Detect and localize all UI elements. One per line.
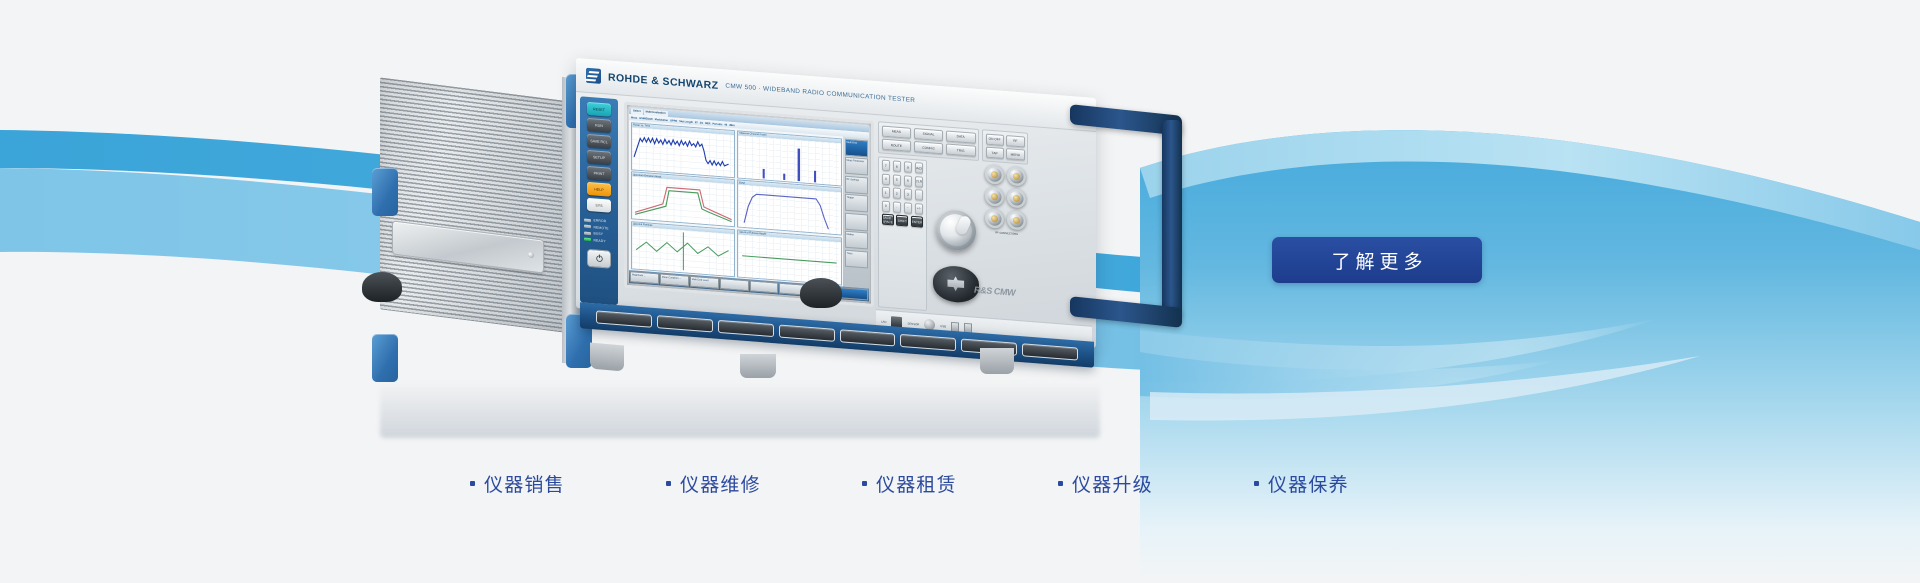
hardkey-reset[interactable]: RESET	[587, 102, 611, 117]
sidekey-meas-parameter[interactable]: Meas Parameter	[845, 157, 868, 176]
model-designation: CMW 500 · WIDEBAND RADIO COMMUNICATION T…	[725, 82, 915, 104]
key-route[interactable]: ROUTE	[882, 139, 912, 152]
power-button[interactable]	[587, 248, 611, 268]
directional-pad[interactable]	[933, 264, 979, 304]
port-label-lan: LAN	[881, 319, 886, 323]
key-6[interactable]: 6	[904, 175, 913, 187]
nav-key-group: ON OFF RF TAP MENU	[982, 129, 1028, 164]
key-tap[interactable]: TAP	[986, 147, 1004, 159]
service-item-maintenance[interactable]: 仪器保养	[1254, 470, 1450, 497]
power-icon	[595, 253, 604, 263]
trace-spectral-flatness	[632, 226, 735, 276]
info-standard: GSM/EDGE	[639, 116, 652, 120]
sidekey-trace[interactable]: Trace	[845, 249, 868, 268]
panel-spectrum-emission-mask[interactable]: Spectrum Emission Mask	[631, 171, 736, 227]
service-label: 仪器维修	[680, 470, 761, 497]
hardkey-help[interactable]: HELP	[587, 182, 611, 197]
info-ber: BER	[705, 121, 710, 124]
panel-power-vs-time[interactable]: Power vs. Time	[631, 122, 736, 178]
hardkey-setup[interactable]: SETUP	[587, 150, 611, 165]
key-dot-alt[interactable]: ·	[915, 189, 924, 201]
rf-connector-label: RF CONNECTORS	[985, 230, 1028, 236]
key-decimal[interactable]: .	[893, 201, 902, 213]
key-shift[interactable]: SHIFT	[896, 215, 908, 227]
key-7[interactable]: 7	[882, 160, 891, 172]
bullet-icon	[470, 481, 475, 486]
service-label: 仪器升级	[1072, 470, 1153, 497]
softkey-4[interactable]	[779, 324, 835, 341]
trace-spectrum-emission-mask	[632, 176, 735, 226]
footkey-blank-4[interactable]	[839, 287, 868, 300]
port-label-sensor: SENSOR	[907, 321, 919, 326]
softkey-3[interactable]	[718, 319, 774, 336]
hardkey-run[interactable]: RUN	[587, 118, 611, 133]
sidekey-multi-eval[interactable]: Multi Eval	[845, 138, 868, 157]
status-led-group: ERROR REMOTE BUSY READY	[582, 217, 616, 243]
key-trig[interactable]: TRIG	[946, 143, 976, 156]
service-label: 仪器销售	[484, 470, 565, 497]
trace-spectral-flatness-ripple	[738, 234, 841, 284]
info-gprs: GPRS	[670, 119, 677, 123]
key-sign[interactable]: +/-	[915, 203, 924, 215]
rf-connector-rf3-com[interactable]	[985, 208, 1004, 228]
key-meas[interactable]: MEAS	[882, 125, 912, 138]
hardkey-print[interactable]: PRINT	[587, 166, 611, 181]
key-on-off[interactable]: ON OFF	[986, 133, 1004, 145]
info-unit: dBm	[729, 123, 735, 126]
key-clr[interactable]: CLR	[915, 176, 924, 188]
hardkey-column: RESET RUN SAVE RCL SETUP PRINT HELP SYS …	[580, 96, 618, 305]
hardkey-sys[interactable]: SYS	[587, 198, 611, 213]
rubber-foot-left	[362, 272, 402, 302]
rf-connector-rf2-out[interactable]	[1007, 188, 1026, 208]
sidekey-blank[interactable]	[845, 212, 868, 231]
carry-handle	[1070, 110, 1186, 326]
panel-spectral-flatness-ripple[interactable]: Spectral Flatness Ripple	[737, 229, 842, 285]
footkey-magnitude[interactable]: Magnitude ...	[630, 271, 659, 284]
footkey-blank-2[interactable]	[750, 280, 779, 293]
key-signal[interactable]: SIGNAL	[914, 127, 944, 140]
function-key-group: MEAS SIGNAL DATA ROUTE CONFIG TRIG	[878, 121, 979, 160]
key-backspace[interactable]: BACK SPACE	[882, 214, 894, 226]
key-data[interactable]: DATA	[946, 130, 976, 143]
footkey-blank-1[interactable]	[720, 278, 749, 291]
hero-banner: ROHDE & SCHWARZ CMW 500 · WIDEBAND RADIO…	[0, 0, 1920, 583]
learn-more-button[interactable]: 了解更多	[1272, 237, 1482, 283]
info-slot-value: 87	[695, 121, 698, 124]
foot-right	[980, 348, 1014, 374]
info-periodic: Periodic	[712, 122, 722, 126]
key-0[interactable]: 0	[882, 200, 891, 212]
panel-evm[interactable]: EVM	[737, 179, 842, 235]
screen-sidekey-column: Multi Eval Meas Parameter RF Settings Tr…	[843, 137, 869, 289]
led-ready: READY	[584, 237, 616, 243]
key-rf[interactable]: RF	[1006, 135, 1024, 147]
softkey-2[interactable]	[657, 315, 713, 332]
info-slot-ratio: 3/1	[700, 121, 703, 124]
key-config[interactable]: CONFIG	[914, 141, 944, 154]
screen-body: Power vs. Time Adjacent Channel Power	[629, 120, 869, 288]
info-slot-length: Slot Length	[679, 119, 693, 123]
corner-rail-top-left	[372, 168, 398, 216]
trace-power-vs-time	[632, 127, 735, 177]
foot-left	[590, 343, 624, 372]
port-label-usb: USB	[940, 324, 946, 328]
rf-connector-rf1-out[interactable]	[1007, 166, 1026, 186]
softkey-6[interactable]	[900, 333, 956, 350]
rf-connector-rf3-out[interactable]	[1007, 210, 1026, 230]
led-error: ERROR	[584, 218, 616, 224]
key-3[interactable]: 3	[904, 188, 913, 200]
led-busy: BUSY	[584, 231, 616, 237]
key-8[interactable]: 8	[893, 160, 902, 172]
trace-adjacent-channel-power	[738, 135, 841, 185]
key-2[interactable]: 2	[893, 187, 902, 199]
panel-spectral-flatness[interactable]: Spectral Flatness	[631, 221, 736, 277]
service-label: 仪器租赁	[876, 470, 957, 497]
service-item-repair[interactable]: 仪器维修	[666, 470, 862, 497]
bullet-icon	[1058, 481, 1063, 486]
rf-connector-rf1-com[interactable]	[985, 164, 1004, 184]
key-menu[interactable]: MENU	[1006, 148, 1024, 160]
key-minus[interactable]: -	[904, 202, 913, 214]
key-enter[interactable]: ENTER	[911, 216, 923, 228]
sidekey-marker[interactable]: Marker	[845, 231, 868, 250]
service-list: 仪器销售 仪器维修 仪器租赁 仪器升级 仪器保养	[0, 470, 1920, 497]
sidekey-trigger[interactable]: Trigger	[845, 194, 868, 213]
led-remote: REMOTE	[584, 224, 616, 230]
trace-evm	[738, 184, 841, 234]
footkey-multi-eval-level[interactable]: Multi Eval Level	[690, 276, 719, 289]
key-1[interactable]: 1	[882, 187, 891, 199]
numeric-keypad-group: 7 8 9 BACK 4 5 6 CLR 1	[878, 156, 927, 311]
softkey-1[interactable]	[596, 310, 652, 327]
screen: Select Multi Evaluation Meas GSM/EDGE Mo…	[629, 107, 869, 301]
info-meas: Meas	[631, 116, 637, 119]
key-5[interactable]: 5	[893, 174, 902, 186]
bullet-icon	[862, 481, 867, 486]
panel-adjacent-channel-power[interactable]: Adjacent Channel Power	[737, 130, 842, 186]
service-item-upgrade[interactable]: 仪器升级	[1058, 470, 1254, 497]
service-item-rental[interactable]: 仪器租赁	[862, 470, 1058, 497]
chassis-side-panel	[380, 77, 580, 334]
rf-connector-rf2-com[interactable]	[985, 186, 1004, 206]
bullet-icon	[1254, 481, 1259, 486]
key-9[interactable]: 9	[904, 161, 913, 173]
brand-name: ROHDE & SCHWARZ	[608, 71, 718, 91]
foot-center	[740, 354, 776, 378]
footkey-meas-condition[interactable]: Meas Condition ...	[660, 273, 689, 286]
corner-rail-bottom-left	[372, 334, 398, 382]
instrument-cmw500: ROHDE & SCHWARZ CMW 500 · WIDEBAND RADIO…	[380, 72, 1100, 392]
rohde-schwarz-logo-icon	[586, 68, 601, 84]
rubber-foot-right	[800, 278, 842, 308]
softkey-8[interactable]	[1022, 343, 1078, 360]
key-back[interactable]: BACK	[915, 162, 924, 174]
info-level: 46	[724, 123, 727, 126]
bullet-icon	[666, 481, 671, 486]
sidekey-rf-settings[interactable]: RF Settings	[845, 175, 868, 194]
info-modulation: Modulation	[655, 118, 668, 122]
service-label: 仪器保养	[1268, 470, 1349, 497]
hardkey-save-rcl[interactable]: SAVE RCL	[587, 134, 611, 149]
key-4[interactable]: 4	[882, 173, 891, 185]
softkey-5[interactable]	[840, 329, 896, 346]
rotary-knob[interactable]	[936, 208, 976, 251]
measurement-panel-grid: Power vs. Time Adjacent Channel Power	[629, 120, 843, 286]
service-item-sales[interactable]: 仪器销售	[470, 470, 666, 497]
instrument-display[interactable]: Select Multi Evaluation Meas GSM/EDGE Mo…	[624, 102, 874, 307]
